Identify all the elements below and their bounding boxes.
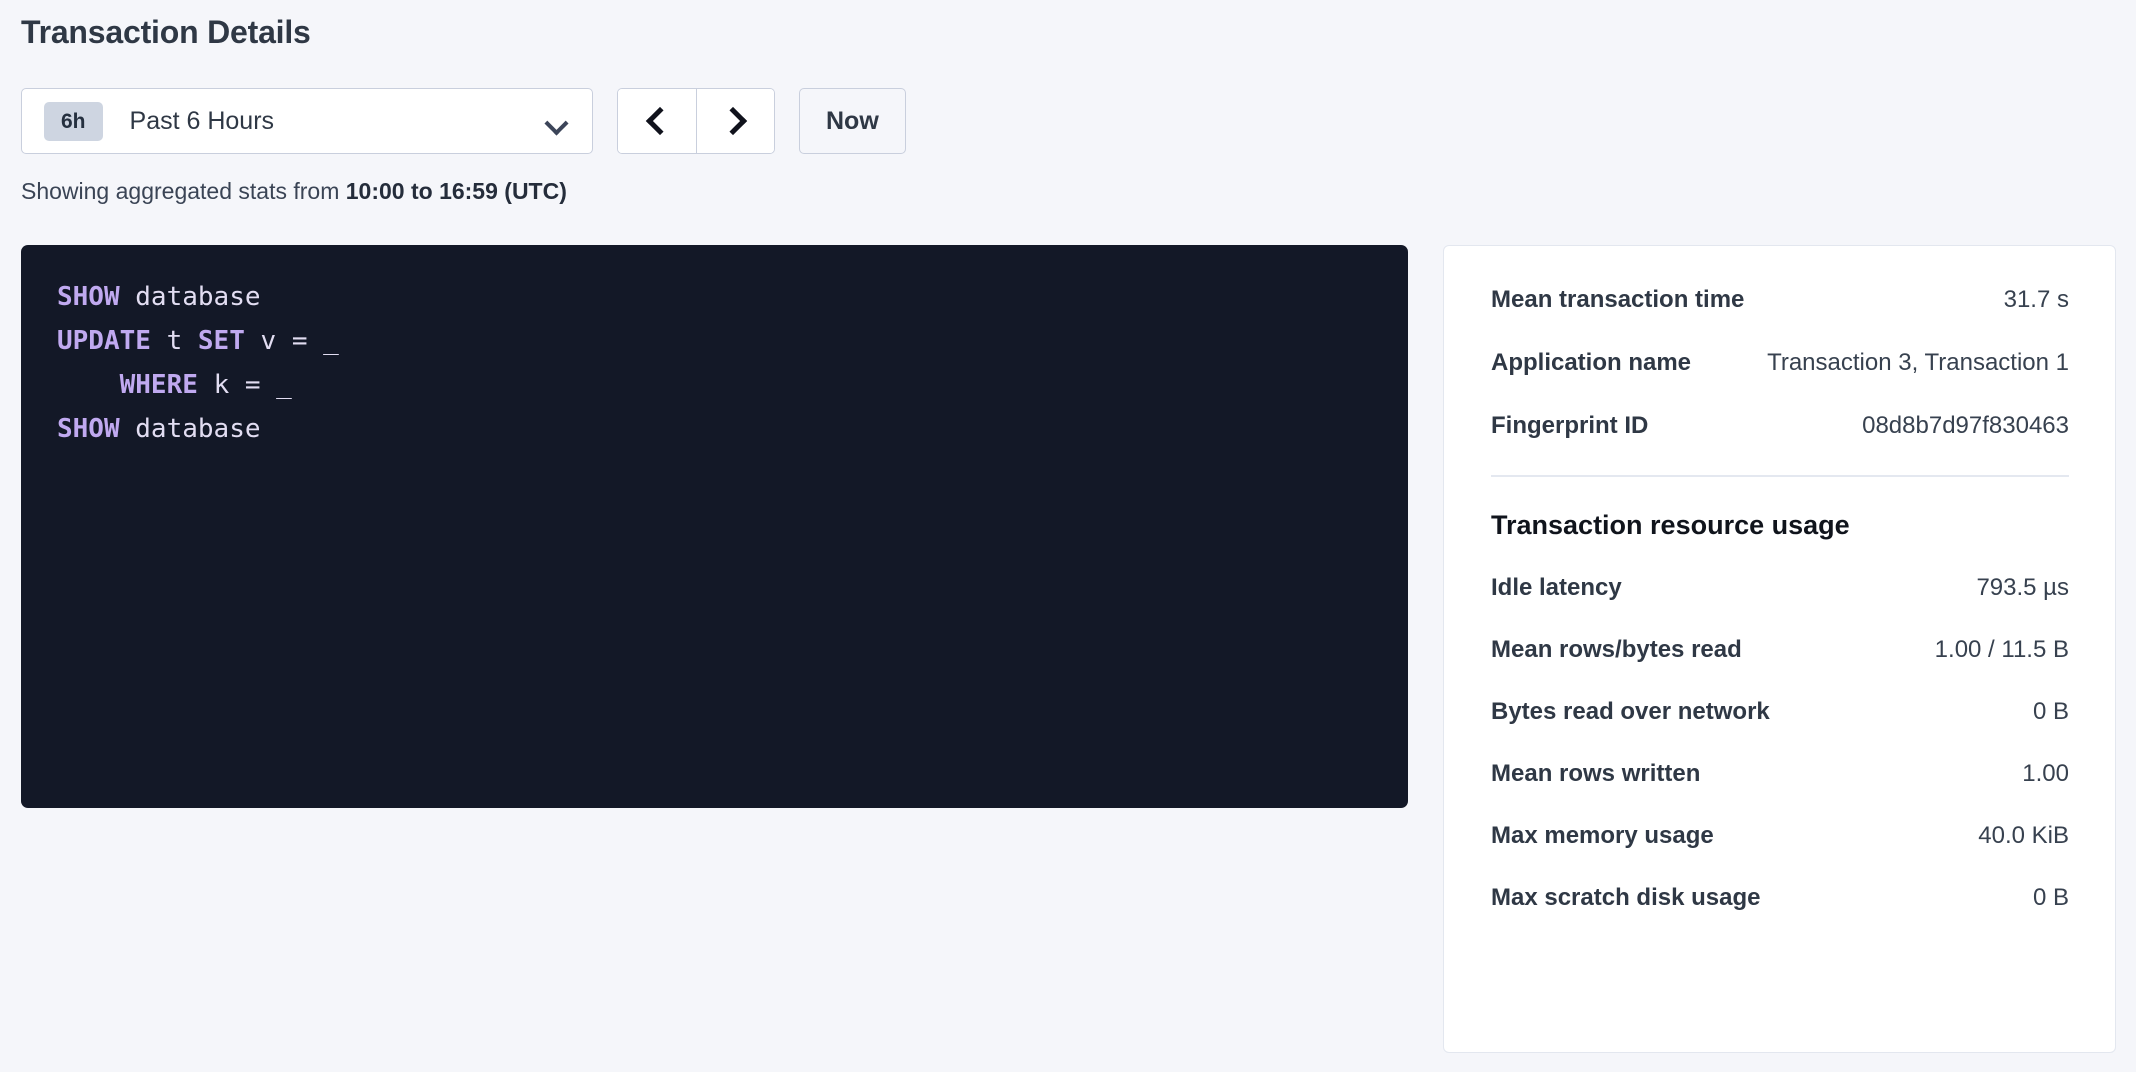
sql-token <box>245 326 261 356</box>
time-range-select[interactable]: 6h Past 6 Hours <box>21 88 593 154</box>
stat-row: Mean transaction time31.7 s <box>1491 286 2069 314</box>
stat-row: Mean rows/bytes read1.00 / 11.5 B <box>1491 636 2069 664</box>
resource-usage-list: Idle latency793.5 µsMean rows/bytes read… <box>1491 574 2069 912</box>
sql-token: UPDATE <box>57 326 151 356</box>
stat-label: Mean transaction time <box>1491 286 1744 314</box>
stat-value: 0 B <box>2033 884 2069 912</box>
time-range-label: Past 6 Hours <box>130 107 546 136</box>
stat-value: 793.5 µs <box>1976 574 2069 602</box>
sql-token: SET <box>198 326 245 356</box>
stat-label: Max memory usage <box>1491 822 1714 850</box>
time-range-toolbar: 6h Past 6 Hours Now <box>21 88 906 154</box>
stat-row: Max scratch disk usage0 B <box>1491 884 2069 912</box>
transaction-stats-card: Mean transaction time31.7 sApplication n… <box>1443 245 2116 1053</box>
sql-token: v <box>261 326 277 356</box>
stat-row: Max memory usage40.0 KiB <box>1491 822 2069 850</box>
stat-label: Fingerprint ID <box>1491 412 1648 440</box>
stat-value: 1.00 <box>2022 760 2069 788</box>
page-title: Transaction Details <box>21 14 311 51</box>
stat-row: Bytes read over network0 B <box>1491 698 2069 726</box>
sql-token: t <box>167 326 183 356</box>
stat-value: 0 B <box>2033 698 2069 726</box>
chevron-down-icon <box>546 115 568 128</box>
sql-statement-block: SHOW database UPDATE t SET v = _ WHERE k… <box>21 245 1408 808</box>
stat-value: 08d8b7d97f830463 <box>1862 412 2069 440</box>
next-range-button[interactable] <box>696 89 774 153</box>
stat-label: Mean rows written <box>1491 760 1700 788</box>
sql-token: k <box>214 370 230 400</box>
sql-token <box>120 282 136 312</box>
stat-label: Application name <box>1491 349 1691 377</box>
transaction-details-page: Transaction Details 6h Past 6 Hours Now … <box>0 0 2136 1072</box>
sql-token <box>120 414 136 444</box>
stat-row: Fingerprint ID08d8b7d97f830463 <box>1491 412 2069 440</box>
time-nav-group <box>617 88 775 154</box>
sql-token <box>182 326 198 356</box>
sql-token <box>198 370 214 400</box>
time-range-badge: 6h <box>44 102 103 141</box>
stat-row: Application nameTransaction 3, Transacti… <box>1491 349 2069 377</box>
sql-token: = _ <box>229 370 292 400</box>
stat-label: Mean rows/bytes read <box>1491 636 1742 664</box>
stat-value: Transaction 3, Transaction 1 <box>1767 349 2069 377</box>
sql-token: = _ <box>276 326 339 356</box>
stat-row: Idle latency793.5 µs <box>1491 574 2069 602</box>
aggregation-period-text: Showing aggregated stats from 10:00 to 1… <box>21 178 567 205</box>
sql-token <box>57 370 120 400</box>
sql-token: database <box>135 282 260 312</box>
resource-usage-title: Transaction resource usage <box>1491 510 2069 541</box>
stat-row: Mean rows written1.00 <box>1491 760 2069 788</box>
stat-value: 40.0 KiB <box>1978 822 2069 850</box>
now-button[interactable]: Now <box>799 88 906 154</box>
previous-range-button[interactable] <box>618 89 696 153</box>
stat-value: 1.00 / 11.5 B <box>1935 636 2069 664</box>
sql-token: database <box>135 414 260 444</box>
chevron-right-icon <box>719 107 747 135</box>
transaction-details-list: Mean transaction time31.7 sApplication n… <box>1491 286 2069 440</box>
sql-token: WHERE <box>120 370 198 400</box>
aggregation-period-range: 10:00 to 16:59 (UTC) <box>346 178 567 204</box>
stat-label: Bytes read over network <box>1491 698 1770 726</box>
chevron-left-icon <box>645 107 673 135</box>
sql-token: SHOW <box>57 282 120 312</box>
stat-value: 31.7 s <box>2004 286 2069 314</box>
section-divider <box>1491 475 2069 477</box>
stat-label: Max scratch disk usage <box>1491 884 1760 912</box>
aggregation-period-prefix: Showing aggregated stats from <box>21 178 346 204</box>
stat-label: Idle latency <box>1491 574 1622 602</box>
sql-token <box>151 326 167 356</box>
sql-token: SHOW <box>57 414 120 444</box>
